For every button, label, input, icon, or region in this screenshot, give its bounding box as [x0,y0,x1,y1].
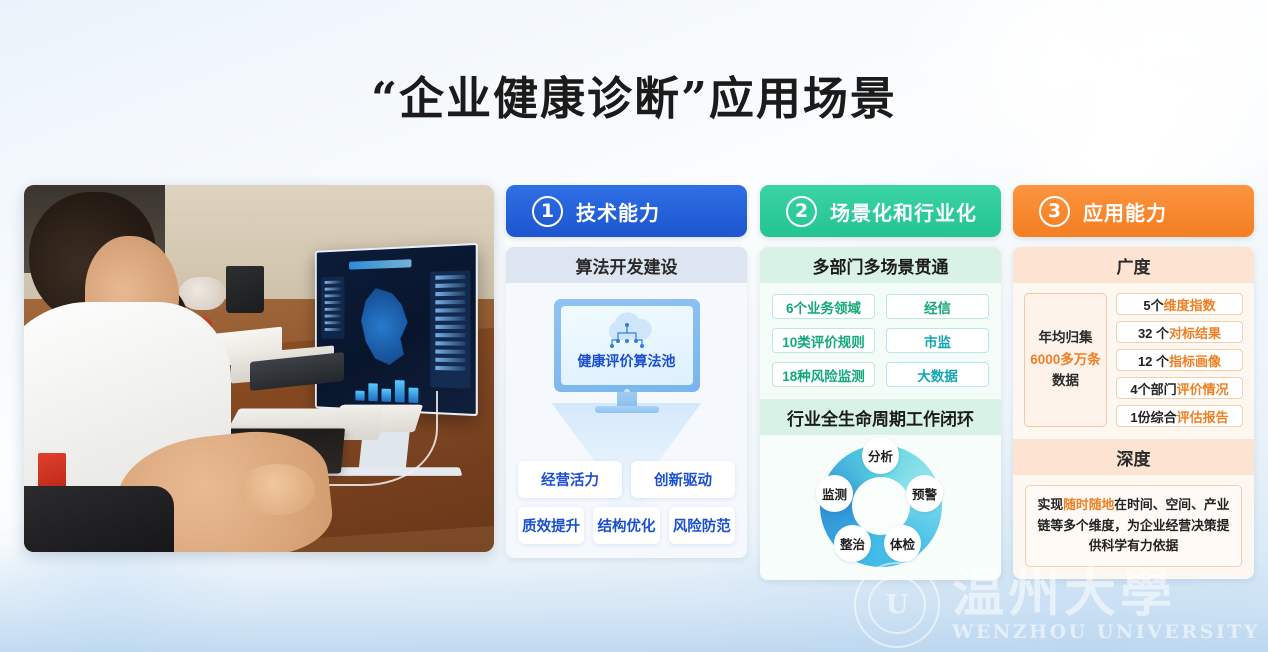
breadth-tag-highlight: 对标结果 [1169,323,1221,342]
breadth-tag-lead: 12 个 [1138,351,1169,370]
capability-tag[interactable]: 经营活力 [518,461,622,498]
breadth-tag[interactable]: 1份综合评估报告 [1116,405,1243,427]
breadth-tag-lead: 4个部门 [1130,379,1176,398]
column-2-title: 场景化和行业化 [830,197,977,226]
depth-text-pre: 实现 [1038,497,1064,512]
scene-photo [24,185,494,552]
breadth-tag-highlight: 评估报告 [1177,407,1229,426]
data-volume-line2: 6000多万条 [1030,352,1101,369]
step-number-3: 3 [1039,196,1070,227]
capability-tag[interactable]: 结构优化 [593,507,659,544]
scope-chip[interactable]: 18种风险监测 [772,362,875,387]
breadth-content: 年均归集 6000多万条 数据 5个维度指数 32 个对标结果 12 个指标画像… [1013,283,1254,439]
department-chip[interactable]: 大数据 [886,362,989,387]
column-1-title: 技术能力 [576,197,660,226]
lifecycle-loop-diagram: 分析 预警 体检 整治 监测 [760,435,1001,580]
breadth-tag-lead: 5个 [1143,295,1163,314]
depth-text-highlight: 随时随地 [1063,497,1114,512]
column-3-panel: 广度 年均归集 6000多万条 数据 5个维度指数 32 个对标结果 12 个指… [1013,247,1254,579]
algorithm-pool-label: 健康评价算法池 [578,351,676,371]
breadth-tag-lead: 1份综合 [1130,407,1176,426]
column-1-tag-group: 经营活力 创新驱动 质效提升 结构优化 风险防范 [518,461,735,544]
breadth-tag-highlight: 指标画像 [1169,351,1221,370]
column-1-header: 1 技术能力 [506,185,747,237]
breadth-tag[interactable]: 12 个指标画像 [1116,349,1243,371]
breadth-tag[interactable]: 32 个对标结果 [1116,321,1243,343]
page-title: “企业健康诊断”应用场景 [0,62,1268,127]
capability-tag[interactable]: 风险防范 [669,507,735,544]
department-chip[interactable]: 市监 [886,328,989,353]
scope-chip[interactable]: 10类评价规则 [772,328,875,353]
column-1-panel: 算法开发建设 [506,247,747,558]
depth-header: 深度 [1013,439,1254,475]
data-volume-line3: 数据 [1052,373,1079,390]
loop-node-analysis[interactable]: 分析 [862,437,899,474]
column-1-subheader: 算法开发建设 [506,247,747,283]
breadth-header: 广度 [1013,247,1254,283]
step-number-2: 2 [786,196,817,227]
loop-node-warning[interactable]: 预警 [906,475,943,512]
breadth-tag-list: 5个维度指数 32 个对标结果 12 个指标画像 4个部门评价情况 1份综合评估… [1116,293,1243,427]
seal-monogram: U [868,576,926,634]
capability-tag[interactable]: 创新驱动 [631,461,735,498]
column-technical-capability: 1 技术能力 算法开发建设 [506,185,747,558]
department-chip[interactable]: 经信 [886,294,989,319]
step-number-1: 1 [532,196,563,227]
column-application-capability: 3 应用能力 广度 年均归集 6000多万条 数据 5个维度指数 32 个对标结… [1013,185,1254,579]
column-2-header: 2 场景化和行业化 [760,185,1001,237]
capability-tag[interactable]: 质效提升 [518,507,584,544]
column-2-panel: 多部门多场景贯通 6个业务领域 10类评价规则 18种风险监测 经信 市监 大数… [760,247,1001,580]
data-volume-line1: 年均归集 [1039,330,1093,347]
depth-description: 实现随时随地在时间、空间、产业链等多个维度，为企业经营决策提供科学有力依据 [1025,485,1242,567]
breadth-tag[interactable]: 4个部门评价情况 [1116,377,1243,399]
cloud-network-icon [592,310,662,354]
column-2-chip-group: 6个业务领域 10类评价规则 18种风险监测 经信 市监 大数据 [760,283,1001,399]
loop-node-checkup[interactable]: 体检 [884,525,921,562]
algorithm-pool-illustration: 健康评价算法池 [554,299,700,413]
loop-node-rectify[interactable]: 整治 [834,525,871,562]
photo-illustration [24,185,494,552]
loop-node-monitor[interactable]: 监测 [816,475,853,512]
breadth-tag-highlight: 评价情况 [1177,379,1229,398]
breadth-tag[interactable]: 5个维度指数 [1116,293,1243,315]
data-volume-box: 年均归集 6000多万条 数据 [1024,293,1107,427]
scope-chip[interactable]: 6个业务领域 [772,294,875,319]
column-2-subheader: 多部门多场景贯通 [760,247,1001,283]
breadth-tag-lead: 32 个 [1138,323,1169,342]
column-scenario-industrialization: 2 场景化和行业化 多部门多场景贯通 6个业务领域 10类评价规则 18种风险监… [760,185,1001,580]
lifecycle-loop-header: 行业全生命周期工作闭环 [760,399,1001,435]
column-3-title: 应用能力 [1083,197,1167,226]
breadth-tag-highlight: 维度指数 [1164,295,1216,314]
university-name-en: WENZHOU UNIVERSITY [952,621,1260,643]
column-3-header: 3 应用能力 [1013,185,1254,237]
